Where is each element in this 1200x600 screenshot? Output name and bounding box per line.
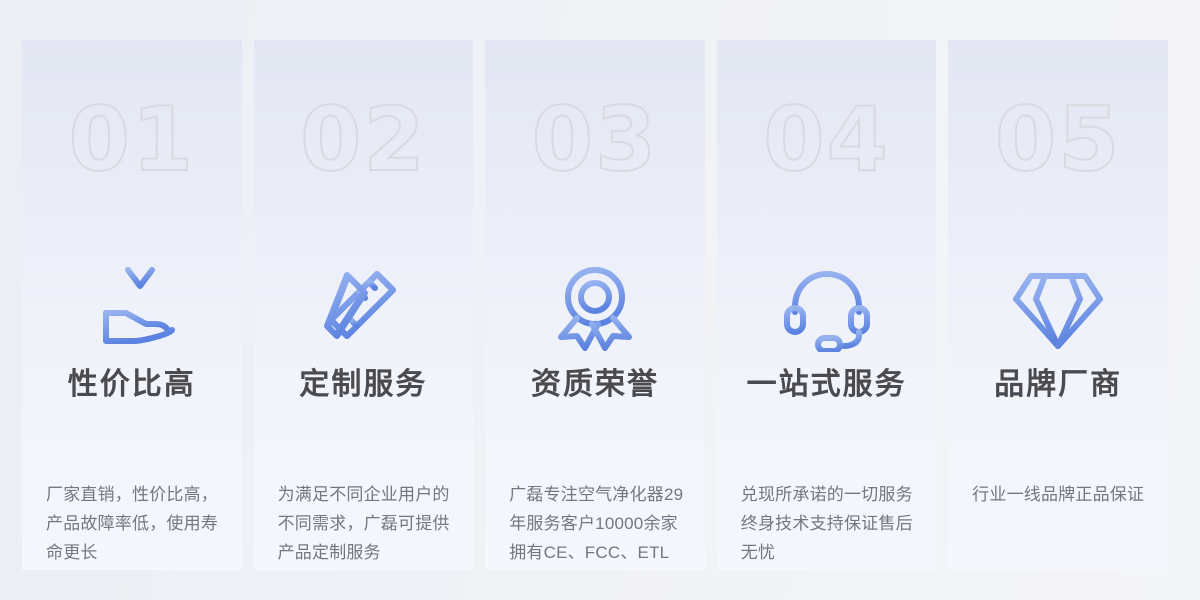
advantage-card[interactable]: 05 品牌厂商 bbox=[948, 40, 1168, 570]
card-title: 资质荣誉 bbox=[485, 366, 705, 404]
card-description: 兑现所承诺的一切服务终身技术支持保证售后无忧 bbox=[737, 480, 917, 567]
advantage-card[interactable]: 01 bbox=[22, 40, 242, 570]
advantage-card[interactable]: 04 bbox=[717, 40, 937, 570]
award-ribbon-icon bbox=[485, 262, 705, 356]
diamond-icon bbox=[948, 262, 1168, 356]
card-index-number: 01 bbox=[22, 96, 242, 184]
advantage-card-list: 01 bbox=[22, 40, 1168, 570]
card-title: 定制服务 bbox=[254, 366, 474, 404]
card-index-number: 04 bbox=[717, 96, 937, 184]
card-description: 行业一线品牌正品保证 bbox=[968, 480, 1148, 509]
card-description: 广磊专注空气净化器29年服务客户10000余家拥有CE、FCC、ETL等各项认证 bbox=[505, 480, 685, 570]
card-title: 性价比高 bbox=[22, 366, 242, 404]
card-title: 一站式服务 bbox=[717, 366, 937, 404]
advantage-card[interactable]: 02 bbox=[254, 40, 474, 570]
card-description: 为满足不同企业用户的不同需求，广磊可提供产品定制服务 bbox=[274, 480, 454, 567]
card-index-number: 02 bbox=[254, 96, 474, 184]
crossed-pen-ruler-icon bbox=[254, 262, 474, 356]
headset-icon bbox=[717, 262, 937, 356]
card-title: 品牌厂商 bbox=[948, 366, 1168, 404]
card-description: 厂家直销，性价比高，产品故障率低，使用寿命更长 bbox=[42, 480, 222, 567]
hand-holding-yuan-icon bbox=[22, 262, 242, 356]
card-index-number: 03 bbox=[485, 96, 705, 184]
advantage-card[interactable]: 03 资质荣誉 bbox=[485, 40, 705, 570]
card-index-number: 05 bbox=[948, 96, 1168, 184]
advantages-section: 01 bbox=[0, 0, 1200, 600]
